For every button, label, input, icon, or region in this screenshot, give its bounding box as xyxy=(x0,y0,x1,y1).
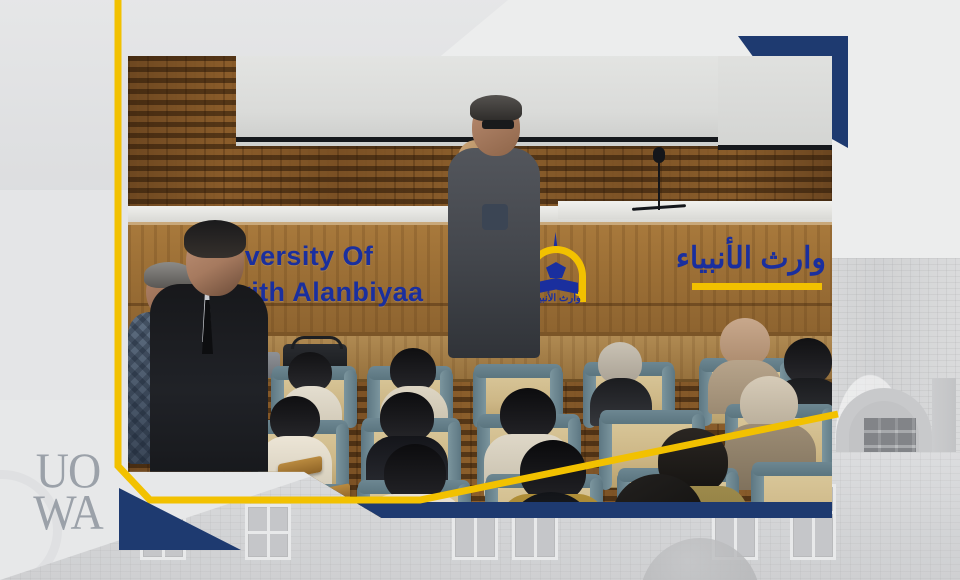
audience-head-scarf xyxy=(740,376,798,430)
seat-headrest xyxy=(752,462,832,476)
facade-window xyxy=(245,504,291,560)
projection-screen-right-section xyxy=(718,56,832,150)
speaker-collar xyxy=(482,204,508,230)
uowa-logo-line-2: WA xyxy=(22,491,114,537)
speaker-hair xyxy=(470,95,522,121)
walking-speaker xyxy=(448,98,540,358)
speaker-sunglasses xyxy=(482,120,514,129)
man-front-hair xyxy=(184,220,246,258)
event-photograph: University Of Warith Alanbiyaa وارث الأن… xyxy=(128,56,832,518)
audience-head-scarf xyxy=(720,318,770,366)
microphone-stand xyxy=(658,156,660,210)
uowa-logo: UO WA xyxy=(22,450,114,536)
seat-headrest xyxy=(474,364,562,378)
banner-arabic-text: وارث الأنبياء xyxy=(676,241,826,276)
banner-yellow-underline xyxy=(692,283,822,290)
audience-head xyxy=(380,392,434,442)
speaker-torso xyxy=(448,148,540,358)
stage-shelf-right xyxy=(558,201,832,219)
audience-head xyxy=(500,388,556,440)
seat-headrest xyxy=(600,410,704,424)
